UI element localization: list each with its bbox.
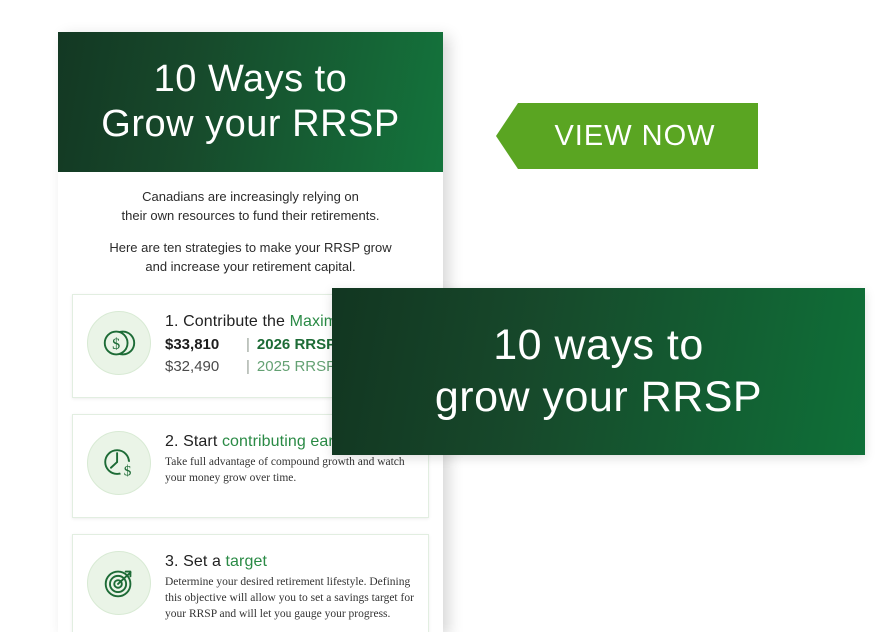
intro-p1-line2: their own resources to fund their retire…	[122, 208, 380, 223]
page-header-banner: 10 Ways to Grow your RRSP	[58, 32, 443, 172]
tip-number-2: 2.	[165, 433, 179, 450]
tip-card-3[interactable]: 3. Set a target Determine your desired r…	[72, 534, 429, 632]
tip-body-3: 3. Set a target Determine your desired r…	[165, 549, 414, 623]
intro-paragraph-2: Here are ten strategies to make your RRS…	[82, 239, 419, 277]
header-title-line1: 10 Ways to	[154, 57, 348, 102]
amount-2025: $32,490	[165, 358, 239, 375]
intro-p2-line1: Here are ten strategies to make your RRS…	[109, 240, 391, 255]
view-now-button[interactable]: VIEW NOW	[496, 103, 758, 169]
tip-title-plain-2: Start	[183, 433, 217, 450]
intro-paragraph-1: Canadians are increasingly relying on th…	[82, 188, 419, 226]
view-now-label: VIEW NOW	[538, 120, 715, 153]
tip-number-3: 3.	[165, 553, 179, 570]
clock-dollar-icon: $	[87, 431, 151, 495]
label-2026: 2026 RRSP	[257, 336, 336, 353]
coins-dollar-icon: $	[87, 311, 151, 375]
overlay-title-line1: 10 ways to	[493, 320, 704, 372]
tip-title-accent-2: contributing early	[222, 433, 346, 450]
target-arrow-icon	[87, 551, 151, 615]
intro-p2-line2: and increase your retirement capital.	[145, 259, 355, 274]
tip-number-1: 1.	[165, 313, 179, 330]
overlay-title-line2: grow your RRSP	[435, 372, 762, 424]
header-title-line2: Grow your RRSP	[101, 102, 399, 147]
money-separator-2: |	[246, 358, 250, 375]
svg-text:$: $	[112, 337, 120, 354]
tip-title-3: 3. Set a target	[165, 553, 414, 571]
intro-section: Canadians are increasingly relying on th…	[58, 172, 443, 284]
tip-description-2: Take full advantage of compound growth a…	[165, 455, 414, 487]
tip-title-accent-3: target	[226, 553, 268, 570]
tip-description-3: Determine your desired retirement lifest…	[165, 575, 414, 623]
label-2025: 2025 RRSP	[257, 358, 336, 375]
svg-text:$: $	[124, 463, 132, 480]
money-separator-1: |	[246, 336, 250, 353]
overlay-title-card[interactable]: 10 ways to grow your RRSP	[332, 288, 865, 455]
amount-2026: $33,810	[165, 336, 239, 353]
intro-p1-line1: Canadians are increasingly relying on	[142, 189, 359, 204]
tip-title-plain-3: Set a	[183, 553, 221, 570]
tip-title-plain-1: Contribute the	[183, 313, 285, 330]
